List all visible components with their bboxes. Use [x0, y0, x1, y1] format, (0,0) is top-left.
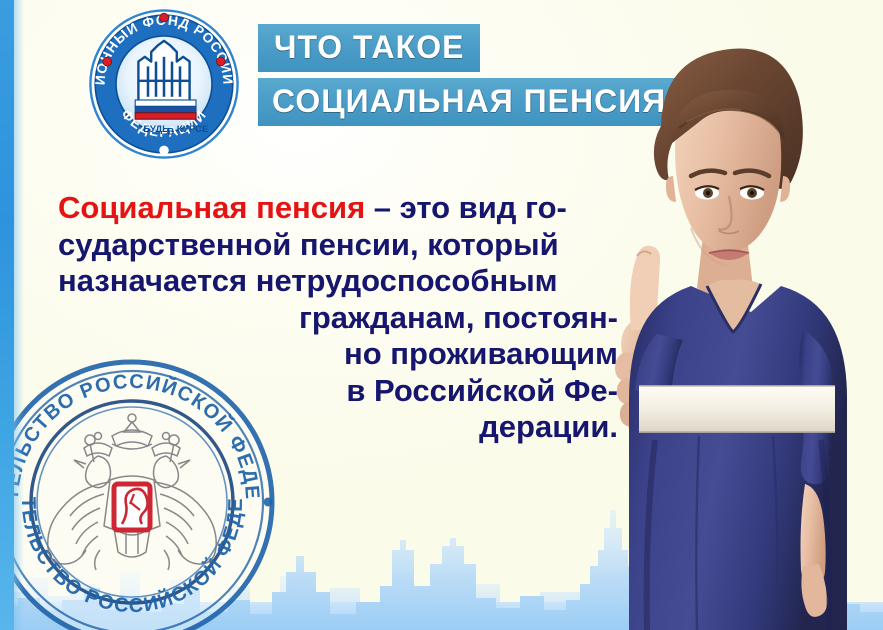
seal-shield — [114, 484, 150, 530]
body-line-2: сударственной пенсии, который — [58, 227, 618, 264]
body-line-7: дерации. — [58, 409, 618, 446]
left-edge-stripe-glow — [14, 0, 24, 630]
pfr-slogan-mid: В — [167, 126, 174, 137]
body-line-5: но проживающим — [58, 336, 618, 373]
body-line-6: в Российской Фе- — [58, 373, 618, 410]
body-line-1: Социальная пенсия – это вид го- — [58, 190, 618, 227]
woman-pointing-up — [595, 0, 883, 630]
pension-fund-russia-logo: ПЕНСИОННЫЙ ФОНД РОССИЙСКОЙ ФЕДЕРАЦИИ — [84, 4, 244, 164]
poster-root: ПЕНСИОННЫЙ ФОНД РОССИЙСКОЙ ФЕДЕРАЦИИ — [0, 0, 883, 630]
body-line-1-rest: – это вид го- — [365, 190, 567, 225]
title-line-1: ЧТО ТАКОЕ — [258, 24, 480, 72]
body-line-3: назначается нетрудоспособным — [58, 263, 618, 300]
body-highlight: Социальная пенсия — [58, 190, 365, 225]
dress-belt — [639, 386, 835, 432]
pfr-slogan-right: КУРСЕ — [177, 124, 209, 135]
body-line-4: гражданам, постоян- — [58, 300, 618, 337]
pfr-slogan-left: БУДЬ — [143, 124, 169, 135]
body-paragraph: Социальная пенсия – это вид го- сударств… — [58, 190, 618, 446]
left-edge-stripe — [0, 0, 14, 630]
